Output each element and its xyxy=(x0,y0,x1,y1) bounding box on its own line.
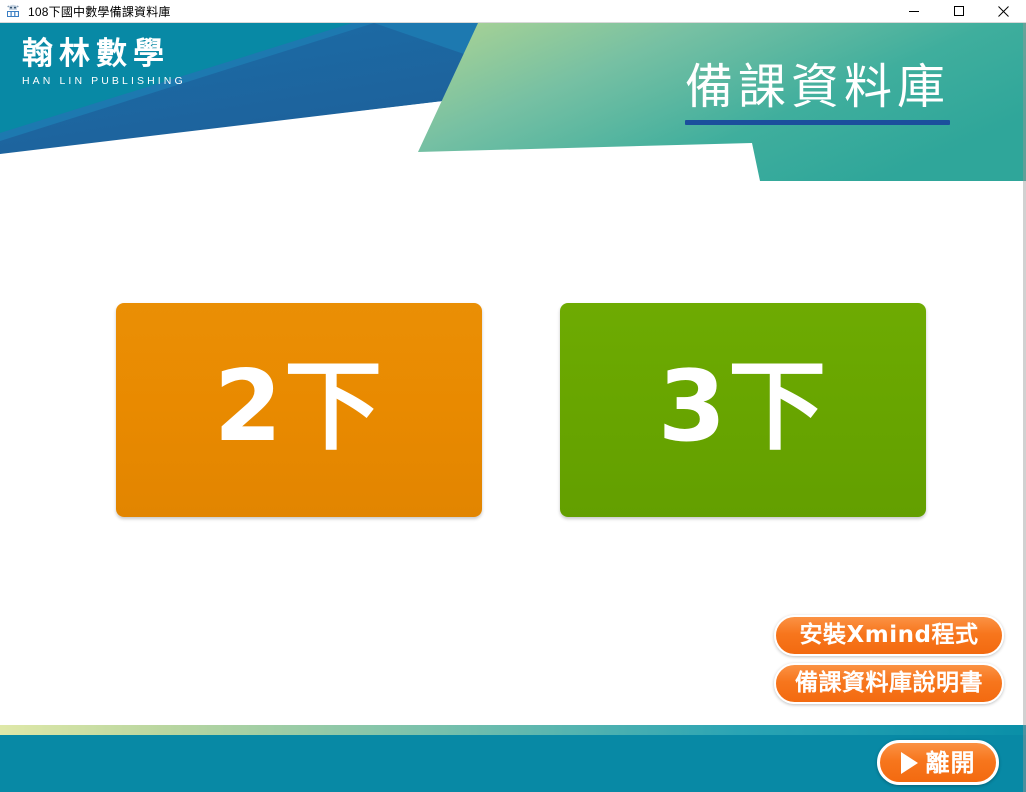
page-title-text: 備課資料庫 xyxy=(685,61,950,115)
utility-button-group: 安裝Xmind程式 備課資料庫說明書 xyxy=(774,615,1004,704)
page-title: 備課資料庫 xyxy=(685,61,950,125)
exit-button[interactable]: 離開 xyxy=(877,740,999,785)
window-titlebar: 108下國中數學備課資料庫 xyxy=(0,0,1026,23)
grade-button-3rd-spring[interactable]: 3下 xyxy=(560,303,926,517)
window-title: 108下國中數學備課資料庫 xyxy=(28,3,171,20)
app-icon xyxy=(5,3,21,19)
grade-button-label: 3下 xyxy=(658,358,828,456)
footer-gradient-strip xyxy=(0,725,1026,735)
footer-bar xyxy=(0,735,1026,792)
header-banner: 翰林數學 HAN LIN PUBLISHING 備課資料庫 xyxy=(0,23,1026,181)
grade-button-2nd-spring[interactable]: 2下 xyxy=(116,303,482,517)
play-triangle-icon xyxy=(901,752,918,774)
install-xmind-button[interactable]: 安裝Xmind程式 xyxy=(774,615,1004,656)
install-xmind-label: 安裝Xmind程式 xyxy=(800,624,979,647)
minimize-button[interactable] xyxy=(891,0,936,22)
close-button[interactable] xyxy=(981,0,1026,22)
manual-label: 備課資料庫說明書 xyxy=(795,672,983,695)
page-title-underline xyxy=(685,120,950,125)
grade-button-label: 2下 xyxy=(214,358,384,456)
application-window: 108下國中數學備課資料庫 xyxy=(0,0,1026,792)
maximize-button[interactable] xyxy=(936,0,981,22)
main-content: 2下 3下 安裝Xmind程式 備課資料庫說明書 xyxy=(0,181,1026,725)
manual-button[interactable]: 備課資料庫說明書 xyxy=(774,663,1004,704)
exit-button-label: 離開 xyxy=(926,751,976,775)
